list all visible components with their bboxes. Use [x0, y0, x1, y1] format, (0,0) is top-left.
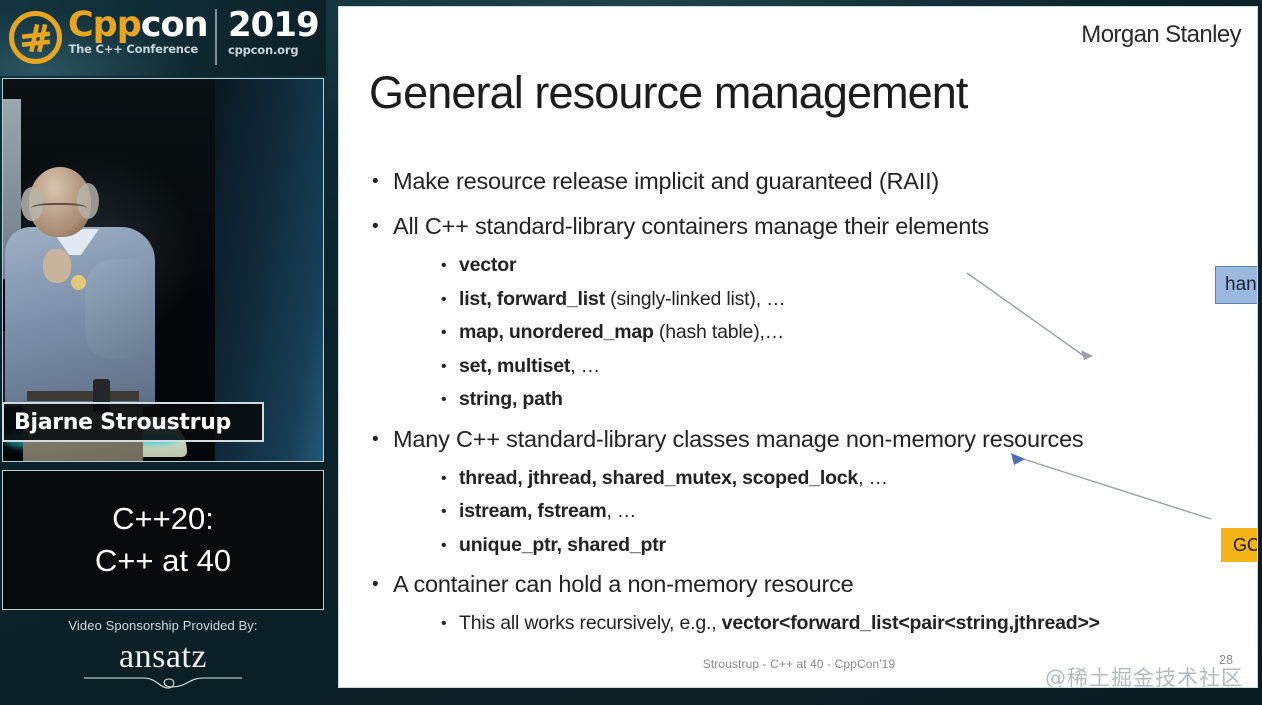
- brand-con-text: con: [141, 5, 208, 45]
- cppcon-brand: Cppcon The C++ Conference: [68, 6, 198, 56]
- speaker-wristwatch: [71, 275, 86, 290]
- code-term: thread, jthread, shared_mutex, scoped_lo…: [459, 467, 858, 489]
- bullet-note: , …: [858, 467, 888, 489]
- code-term: unique_ptr, shared_ptr: [459, 534, 666, 556]
- bullet-level-2: vector: [367, 249, 1257, 283]
- code-term: list, forward_list: [459, 288, 605, 310]
- talk-title-line-2: C++ at 40: [95, 540, 231, 582]
- conference-year: 2019: [228, 6, 324, 44]
- presentation-viewer: Cppcon The C++ Conference 2019 cppcon.or…: [0, 0, 1262, 705]
- banner-divider: [215, 9, 217, 65]
- speaker-nameplate: Bjarne Stroustrup: [2, 402, 264, 442]
- brand-cpp-text: Cpp: [68, 5, 141, 45]
- sponsor-block: Video Sponsorship Provided By: ansatz: [2, 618, 324, 703]
- code-term: vector: [459, 254, 516, 276]
- sponsor-flourish-icon: [2, 671, 324, 691]
- talk-title-line-1: C++20:: [112, 498, 214, 540]
- conference-url: cppcon.org: [228, 43, 324, 57]
- code-term: vector<forward_list<pair<string,jthread>…: [722, 612, 1100, 634]
- bullet-note: , …: [570, 355, 600, 377]
- bullet-level-2: unique_ptr, shared_ptr: [367, 529, 1257, 563]
- cppcon-logo-icon: [7, 9, 64, 66]
- cppcon-banner: Cppcon The C++ Conference 2019 cppcon.or…: [0, 0, 326, 76]
- bullet-lead: This all works recursively, e.g.,: [459, 612, 722, 634]
- sponsor-label: Video Sponsorship Provided By:: [2, 618, 324, 633]
- speaker-arm: [85, 259, 145, 359]
- speaker-glasses: [31, 203, 87, 216]
- bullet-note: , …: [606, 500, 636, 522]
- code-term: set, multiset: [459, 355, 570, 377]
- status-badge: GC is neither sufficient nor ideal: [1221, 528, 1258, 562]
- slide-canvas: Morgan Stanley General resource manageme…: [338, 6, 1258, 688]
- speaker-belt: [27, 391, 139, 401]
- talk-title-panel: C++20: C++ at 40: [2, 470, 324, 610]
- callout-text: GC is neither sufficient nor ideal: [1221, 535, 1258, 556]
- bullet-level-2: map, unordered_map (hash table),…: [367, 316, 1257, 350]
- watermark: @稀土掘金技术社区: [1045, 662, 1243, 688]
- page-title: General resource management: [369, 67, 968, 119]
- code-term: istream, fstream: [459, 500, 606, 522]
- bullet-level-1: All C++ standard-library containers mana…: [367, 204, 1257, 249]
- speaker-hand: [43, 249, 71, 283]
- bullet-level-2: This all works recursively, e.g., vector…: [367, 607, 1257, 641]
- bullet-note: (hash table),…: [654, 321, 784, 343]
- sponsor-wordmark: ansatz: [2, 639, 324, 675]
- code-term: map, unordered_map: [459, 321, 654, 343]
- brand-subtitle: The C++ Conference: [68, 42, 198, 56]
- bullet-level-1: Make resource release implicit and guara…: [367, 159, 1257, 204]
- sidebar-rail: Cppcon The C++ Conference 2019 cppcon.or…: [0, 0, 326, 705]
- speaker-name: Bjarne Stroustrup: [4, 410, 231, 435]
- bullet-level-2: set, multiset, …: [367, 350, 1257, 384]
- bullet-note: (singly-linked list), …: [605, 288, 786, 310]
- slide-bullet-list: Make resource release implicit and guara…: [367, 159, 1257, 641]
- diagram-box-handle: handle: [1215, 266, 1258, 304]
- bullet-level-2: string, path: [367, 383, 1257, 417]
- conference-year-block: 2019 cppcon.org: [228, 6, 324, 57]
- bullet-level-1: A container can hold a non-memory resour…: [367, 562, 1257, 607]
- bullet-level-1: Many C++ standard-library classes manage…: [367, 417, 1257, 462]
- bullet-level-2: istream, fstream, …: [367, 495, 1257, 529]
- bullet-level-2: thread, jthread, shared_mutex, scoped_lo…: [367, 462, 1257, 496]
- diagram-box-handle-label: handle: [1216, 274, 1258, 296]
- slide-branding: Morgan Stanley: [1081, 21, 1241, 49]
- code-term: string, path: [459, 388, 563, 410]
- bullet-level-2: list, forward_list (singly-linked list),…: [367, 283, 1257, 317]
